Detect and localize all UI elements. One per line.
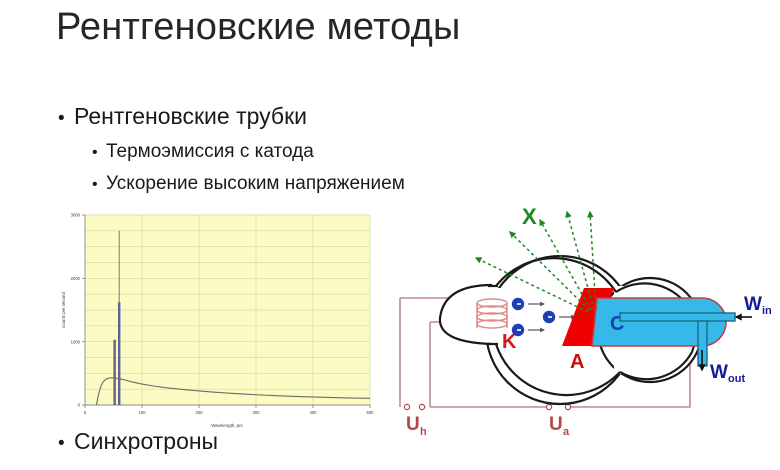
chart-x-axis-title: Wavelength, pm [211,423,243,428]
bullet-label: Рентгеновские трубки [74,103,307,129]
bullet-item-xray-tubes: •Рентгеновские трубки [58,103,307,130]
bullet-marker: • [92,176,106,194]
bullet-marker: • [58,433,74,455]
water-out-label: W out [710,362,745,385]
xray-spectrum-chart: 0100020003000 0100200300400500 counts pe… [55,205,385,430]
xray-tube-diagram: – + U h U a [392,200,780,440]
water-in-symbol: W [744,294,762,315]
heater-voltage-terminals [404,404,424,409]
bullet-marker: • [58,108,74,130]
chart-y-tick-labels: 0100020003000 [71,213,81,408]
accel-voltage-symbol: U [549,414,563,435]
svg-text:1000: 1000 [71,339,81,344]
xray-label: X [522,204,537,229]
svg-text:500: 500 [367,410,375,415]
bullet-label: Ускорение высоким напряжением [106,173,405,194]
page-title: Рентгеновские методы [56,6,461,49]
chart-y-axis-title: counts per second [61,292,66,328]
water-out-symbol: W [710,362,728,383]
accel-voltage-label: U a [549,414,570,438]
bullet-item-synchrotrons: •Синхротроны [58,428,218,455]
svg-text:0: 0 [84,410,87,415]
tube-diagram-svg: – + U h U a [392,200,780,440]
svg-text:0: 0 [78,403,81,408]
water-in-subscript: in [762,305,772,317]
svg-text:400: 400 [310,410,318,415]
heater-voltage-symbol: U [406,414,420,435]
svg-text:3000: 3000 [71,213,81,218]
heater-voltage-subscript: h [420,426,427,438]
svg-text:100: 100 [139,410,147,415]
svg-text:2000: 2000 [71,276,81,281]
anode-label: A [570,351,584,373]
chart-x-tick-labels: 0100200300400500 [84,410,374,415]
bullet-marker: • [92,144,106,162]
chart-svg: 0100020003000 0100200300400500 counts pe… [55,205,385,430]
bullet-label: Термоэмиссия с катода [106,141,314,162]
accel-voltage-terminals [546,404,570,409]
bullet-item-acceleration: •Ускорение высоким напряжением [92,173,405,195]
water-out-subscript: out [728,373,745,385]
svg-text:300: 300 [253,410,261,415]
heater-voltage-label: U h [406,414,427,438]
bullet-item-thermoemission: •Термоэмиссия с катода [92,141,314,163]
accel-voltage-subscript: a [563,426,570,438]
water-in-label: W in [744,294,772,317]
bullet-label: Синхротроны [74,428,218,454]
svg-text:200: 200 [196,410,204,415]
chart-x-ticks [85,405,370,408]
slide-canvas: Рентгеновские методы •Рентгеновские труб… [0,0,780,470]
